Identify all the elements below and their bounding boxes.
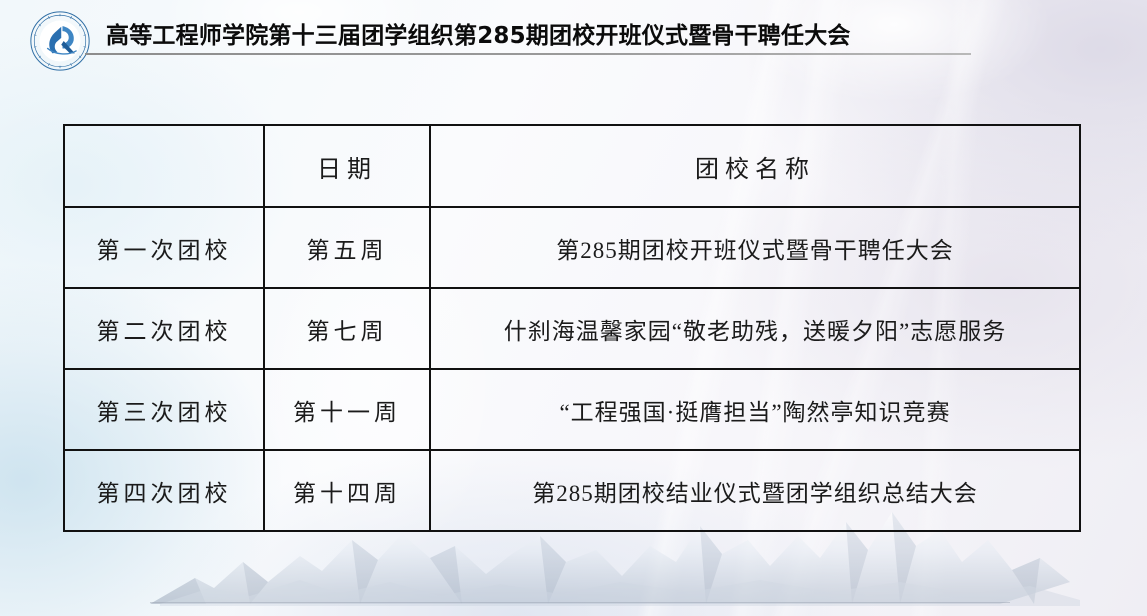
horizon-line bbox=[150, 602, 1010, 603]
slide-header: 高等工程师学院第十三届团学组织第285期团校开班仪式暨骨干聘任大会 bbox=[0, 0, 1147, 72]
page-title: 高等工程师学院第十三届团学组织第285期团校开班仪式暨骨干聘任大会 bbox=[106, 16, 851, 50]
school-emblem-icon bbox=[29, 10, 91, 72]
table-header-row: 日期 团校名称 bbox=[64, 125, 1080, 207]
cell-session: 第一次团校 bbox=[64, 207, 264, 288]
cell-session: 第三次团校 bbox=[64, 369, 264, 450]
table-row: 第四次团校 第十四周 第285期团校结业仪式暨团学组织总结大会 bbox=[64, 450, 1080, 531]
cell-week: 第七周 bbox=[264, 288, 430, 369]
table-body: 第一次团校 第五周 第285期团校开班仪式暨骨干聘任大会 第二次团校 第七周 什… bbox=[64, 207, 1080, 531]
column-header-name: 团校名称 bbox=[430, 125, 1080, 207]
cell-week: 第十一周 bbox=[264, 369, 430, 450]
table-row: 第三次团校 第十一周 “工程强国·挺膺担当”陶然亭知识竞赛 bbox=[64, 369, 1080, 450]
table-row: 第二次团校 第七周 什刹海温馨家园“敬老助残，送暖夕阳”志愿服务 bbox=[64, 288, 1080, 369]
cell-name: 第285期团校结业仪式暨团学组织总结大会 bbox=[430, 450, 1080, 531]
table-row: 第一次团校 第五周 第285期团校开班仪式暨骨干聘任大会 bbox=[64, 207, 1080, 288]
column-header-date: 日期 bbox=[264, 125, 430, 207]
cell-name: 第285期团校开班仪式暨骨干聘任大会 bbox=[430, 207, 1080, 288]
cell-name: “工程强国·挺膺担当”陶然亭知识竞赛 bbox=[430, 369, 1080, 450]
cell-week: 第十四周 bbox=[264, 450, 430, 531]
cell-session: 第二次团校 bbox=[64, 288, 264, 369]
cell-session: 第四次团校 bbox=[64, 450, 264, 531]
column-header-session bbox=[64, 125, 264, 207]
cell-week: 第五周 bbox=[264, 207, 430, 288]
cell-name: 什刹海温馨家园“敬老助残，送暖夕阳”志愿服务 bbox=[430, 288, 1080, 369]
schedule-table: 日期 团校名称 第一次团校 第五周 第285期团校开班仪式暨骨干聘任大会 第二次… bbox=[63, 124, 1081, 532]
slide-canvas: 高等工程师学院第十三届团学组织第285期团校开班仪式暨骨干聘任大会 日期 团校名… bbox=[0, 0, 1147, 616]
table-header: 日期 团校名称 bbox=[64, 125, 1080, 207]
schedule-table-container: 日期 团校名称 第一次团校 第五周 第285期团校开班仪式暨骨干聘任大会 第二次… bbox=[63, 124, 1079, 532]
title-divider bbox=[85, 53, 971, 55]
